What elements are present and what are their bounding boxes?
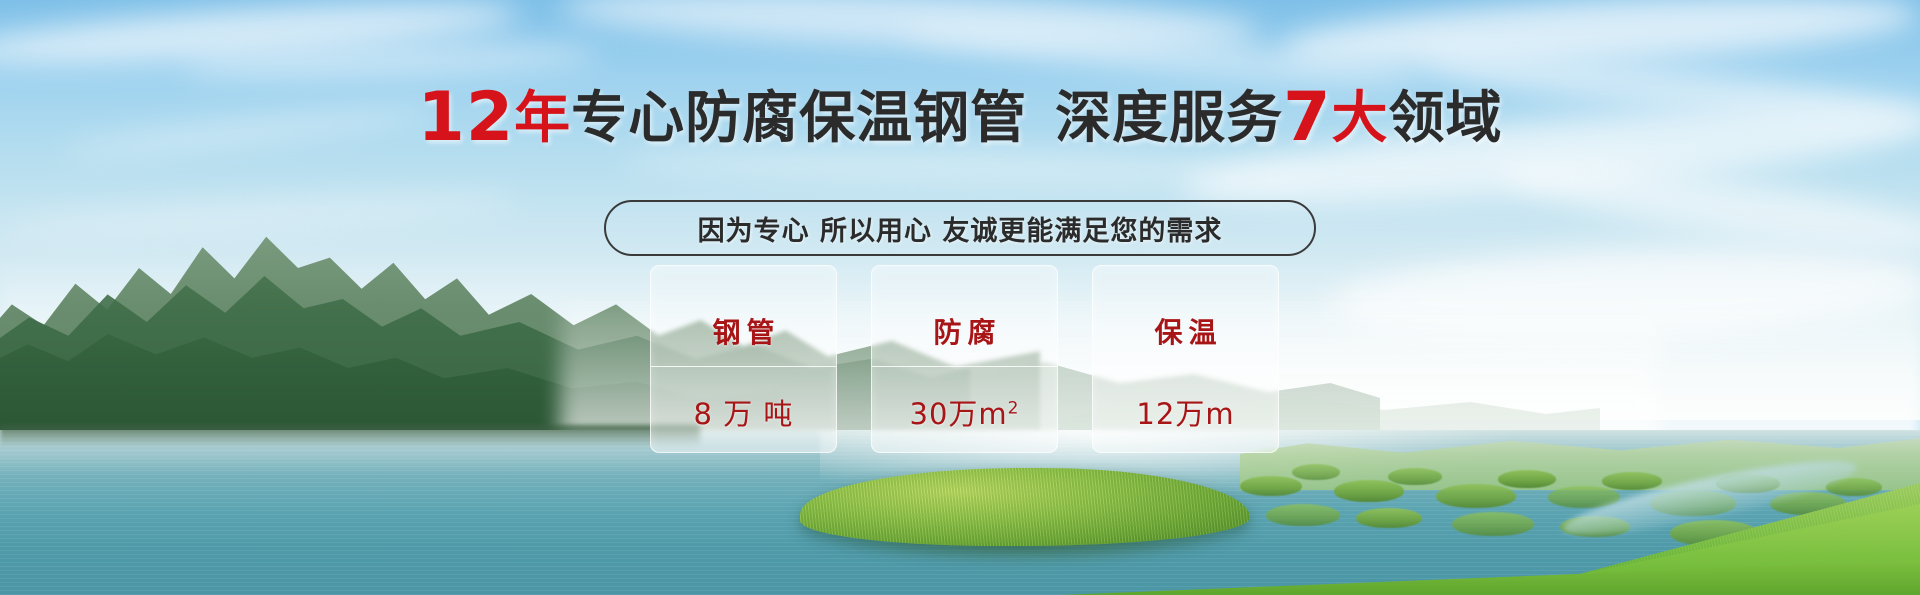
- stat-card-anticorrosion[interactable]: 防腐 30万m2: [871, 265, 1058, 453]
- marsh-grass-clump: [1334, 480, 1404, 502]
- stat-card-value-main: 30万m: [910, 397, 1008, 431]
- stat-card-divider: [872, 366, 1057, 367]
- marsh-grass-clump: [1388, 468, 1442, 485]
- banner-headline: 12年专心防腐保温钢管深度服务7大领域: [0, 86, 1920, 151]
- stat-card-insulation[interactable]: 保温 12万m: [1092, 265, 1279, 453]
- hero-banner: 12年专心防腐保温钢管深度服务7大领域 因为专心 所以用心 友诚更能满足您的需求…: [0, 0, 1920, 595]
- stat-card-value-main: 12万m: [1136, 397, 1234, 431]
- stat-card-label: 防腐: [927, 311, 1001, 351]
- stat-card-label: 钢管: [706, 311, 780, 351]
- stat-card-group: 钢管 8 万 吨 防腐 30万m2 保温 12万m: [650, 265, 1280, 453]
- headline-years-number: 12: [418, 78, 515, 157]
- marsh-grass-clump: [1266, 504, 1340, 526]
- marsh-grass-clump: [1498, 470, 1556, 488]
- marsh-grass-clump: [1356, 508, 1422, 528]
- island-grass-texture: [800, 468, 1250, 546]
- headline-years-unit: 年: [514, 86, 571, 151]
- marsh-grass-clump: [1602, 472, 1662, 490]
- headline-fields-unit: 大: [1331, 86, 1388, 151]
- stat-card-divider: [651, 366, 836, 367]
- stat-card-value: 12万m: [1136, 391, 1234, 433]
- stat-card-steel-pipe[interactable]: 钢管 8 万 吨: [650, 265, 837, 453]
- banner-subtitle-text: 因为专心 所以用心 友诚更能满足您的需求: [698, 209, 1223, 248]
- stat-card-divider: [1093, 366, 1278, 367]
- headline-fields-number: 7: [1283, 78, 1331, 157]
- stat-card-value-main: 8 万 吨: [694, 397, 794, 431]
- headline-service-segment: 深度服务: [1055, 86, 1283, 151]
- marsh-grass-clump: [1436, 484, 1516, 508]
- stat-card-value-superscript: 2: [1008, 398, 1020, 418]
- stat-card-value: 30万m2: [910, 391, 1020, 433]
- banner-subtitle-pill: 因为专心 所以用心 友诚更能满足您的需求: [604, 200, 1316, 256]
- marsh-grass-clump: [1452, 512, 1534, 536]
- marsh-grass-clump: [1292, 464, 1340, 480]
- stat-card-label: 保温: [1148, 311, 1222, 351]
- headline-tail-segment: 领域: [1388, 86, 1502, 151]
- grass-island: [800, 468, 1250, 562]
- headline-main-segment: 专心防腐保温钢管: [571, 86, 1027, 151]
- stat-card-value: 8 万 吨: [694, 391, 794, 433]
- left-shoreline: [0, 425, 700, 447]
